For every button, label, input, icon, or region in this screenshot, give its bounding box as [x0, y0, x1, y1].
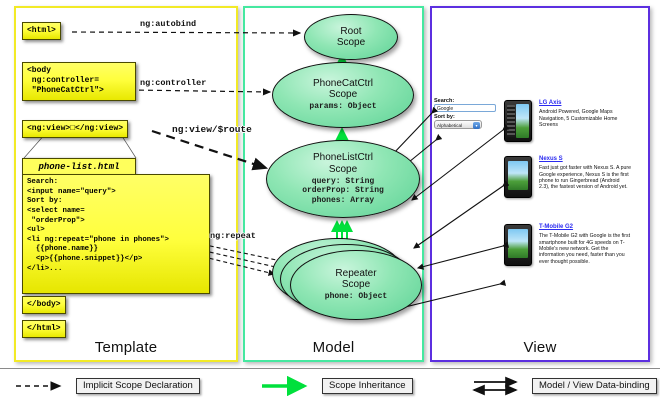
repeater-scope-title: Repeater Scope	[335, 268, 376, 290]
double-arrow-icon	[470, 376, 526, 396]
phonelistctrl-scope: PhoneListCtrl Scope query: String orderP…	[266, 140, 420, 218]
binding-phone-1	[412, 130, 503, 200]
html-close-tag: </html>	[22, 320, 66, 338]
legend-item-scope-inheritance: Scope Inheritance	[260, 375, 413, 397]
repeater-scope-stack: Repeater Scope phone: Object	[272, 236, 422, 318]
root-scope-title: Root Scope	[337, 26, 365, 48]
legend-label: Model / View Data-binding	[532, 378, 657, 394]
phone-list-file-card: phone-list.html Search: <input name="que…	[22, 158, 202, 288]
html-open-tag: <html>	[22, 22, 61, 40]
repeater-scope-props: phone: Object	[325, 292, 387, 302]
legend-label: Implicit Scope Declaration	[76, 378, 200, 394]
binding-phone-3	[418, 246, 503, 268]
file-card-code: Search: <input name="query"> Sort by: <s…	[22, 174, 210, 294]
label-ng-repeat: ng:repeat	[210, 231, 256, 241]
root-scope: Root Scope	[304, 14, 398, 60]
phonecatctrl-scope: PhoneCatCtrl Scope params: Object	[272, 62, 414, 128]
repeater-scope: Repeater Scope phone: Object	[290, 250, 422, 320]
phonelistctrl-scope-props: query: String orderProp: String phones: …	[302, 177, 384, 206]
dashed-arrow-icon	[14, 376, 70, 396]
body-open-tag: <body ng:controller= "PhoneCatCtrl">	[22, 62, 136, 101]
label-ng-view-route: ng:view/$route	[172, 124, 252, 135]
body-close-tag: </body>	[22, 296, 66, 314]
ng-view-tag: <ng:view>□</ng:view>	[22, 120, 128, 138]
legend-label: Scope Inheritance	[322, 378, 413, 394]
green-arrow-icon	[260, 376, 316, 396]
legend: Implicit Scope Declaration Scope Inherit…	[0, 368, 660, 406]
phonelistctrl-scope-title: PhoneListCtrl Scope	[313, 152, 373, 174]
label-ng-controller: ng:controller	[140, 78, 206, 88]
label-ng-autobind: ng:autobind	[140, 19, 196, 29]
architecture-diagram: Template Model View <html> <body ng:cont…	[0, 0, 660, 405]
legend-item-model-view-data-binding: Model / View Data-binding	[470, 375, 657, 397]
arrow-ng-controller	[130, 90, 270, 92]
legend-item-implicit-scope-declaration: Implicit Scope Declaration	[14, 375, 200, 397]
phonecatctrl-scope-title: PhoneCatCtrl Scope	[313, 78, 373, 100]
binding-phone-2	[414, 186, 503, 248]
phonecatctrl-scope-props: params: Object	[309, 102, 376, 112]
arrow-ng-autobind	[72, 32, 300, 33]
